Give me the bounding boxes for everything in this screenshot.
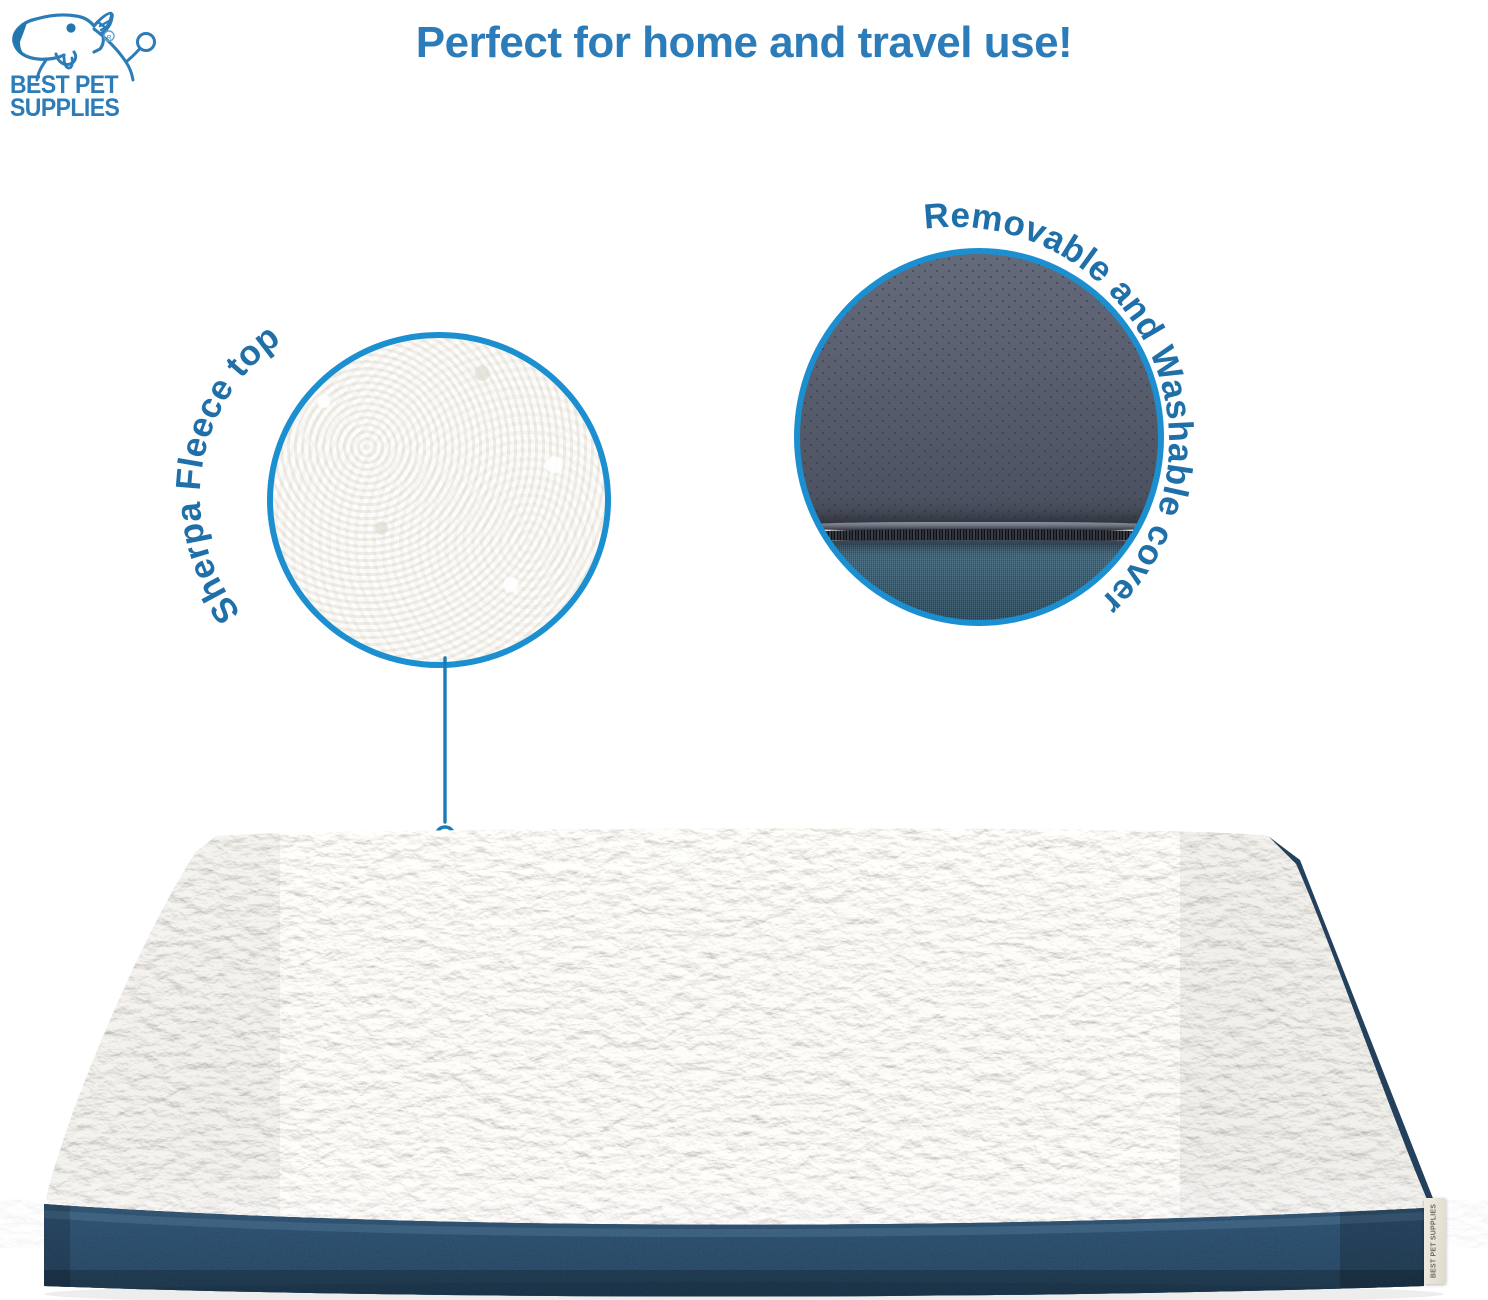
brand-wordmark: BEST PET SUPPLIES (10, 74, 154, 121)
sherpa-swatch-image (269, 334, 609, 666)
product-dog-bed (0, 800, 1488, 1300)
mesh-fabric-texture (796, 250, 1162, 524)
callout-removable-cover: Removable and Washable cover (782, 236, 1180, 634)
cover-swatch-image (796, 250, 1162, 624)
callout-sherpa-fleece: Sherpa Fleece top (255, 320, 625, 680)
brand-name-line2: SUPPLIES (10, 97, 154, 120)
dog-bed-illustration (0, 800, 1488, 1300)
care-tag-line2: SUPPLIES (1431, 1204, 1438, 1240)
sherpa-texture (269, 334, 609, 666)
bed-sherpa-top (0, 800, 1488, 1260)
care-tag-line1: BEST PET (1431, 1242, 1438, 1278)
care-tag-text: BEST PET SUPPLIES (1431, 1204, 1440, 1278)
headline-text: Perfect for home and travel use! (0, 18, 1488, 68)
infographic-canvas: R BEST PET SUPPLIES Perfect for home and… (0, 0, 1488, 1300)
teal-fabric-wall (796, 545, 1162, 624)
product-care-tag: BEST PET SUPPLIES (1424, 1198, 1446, 1284)
